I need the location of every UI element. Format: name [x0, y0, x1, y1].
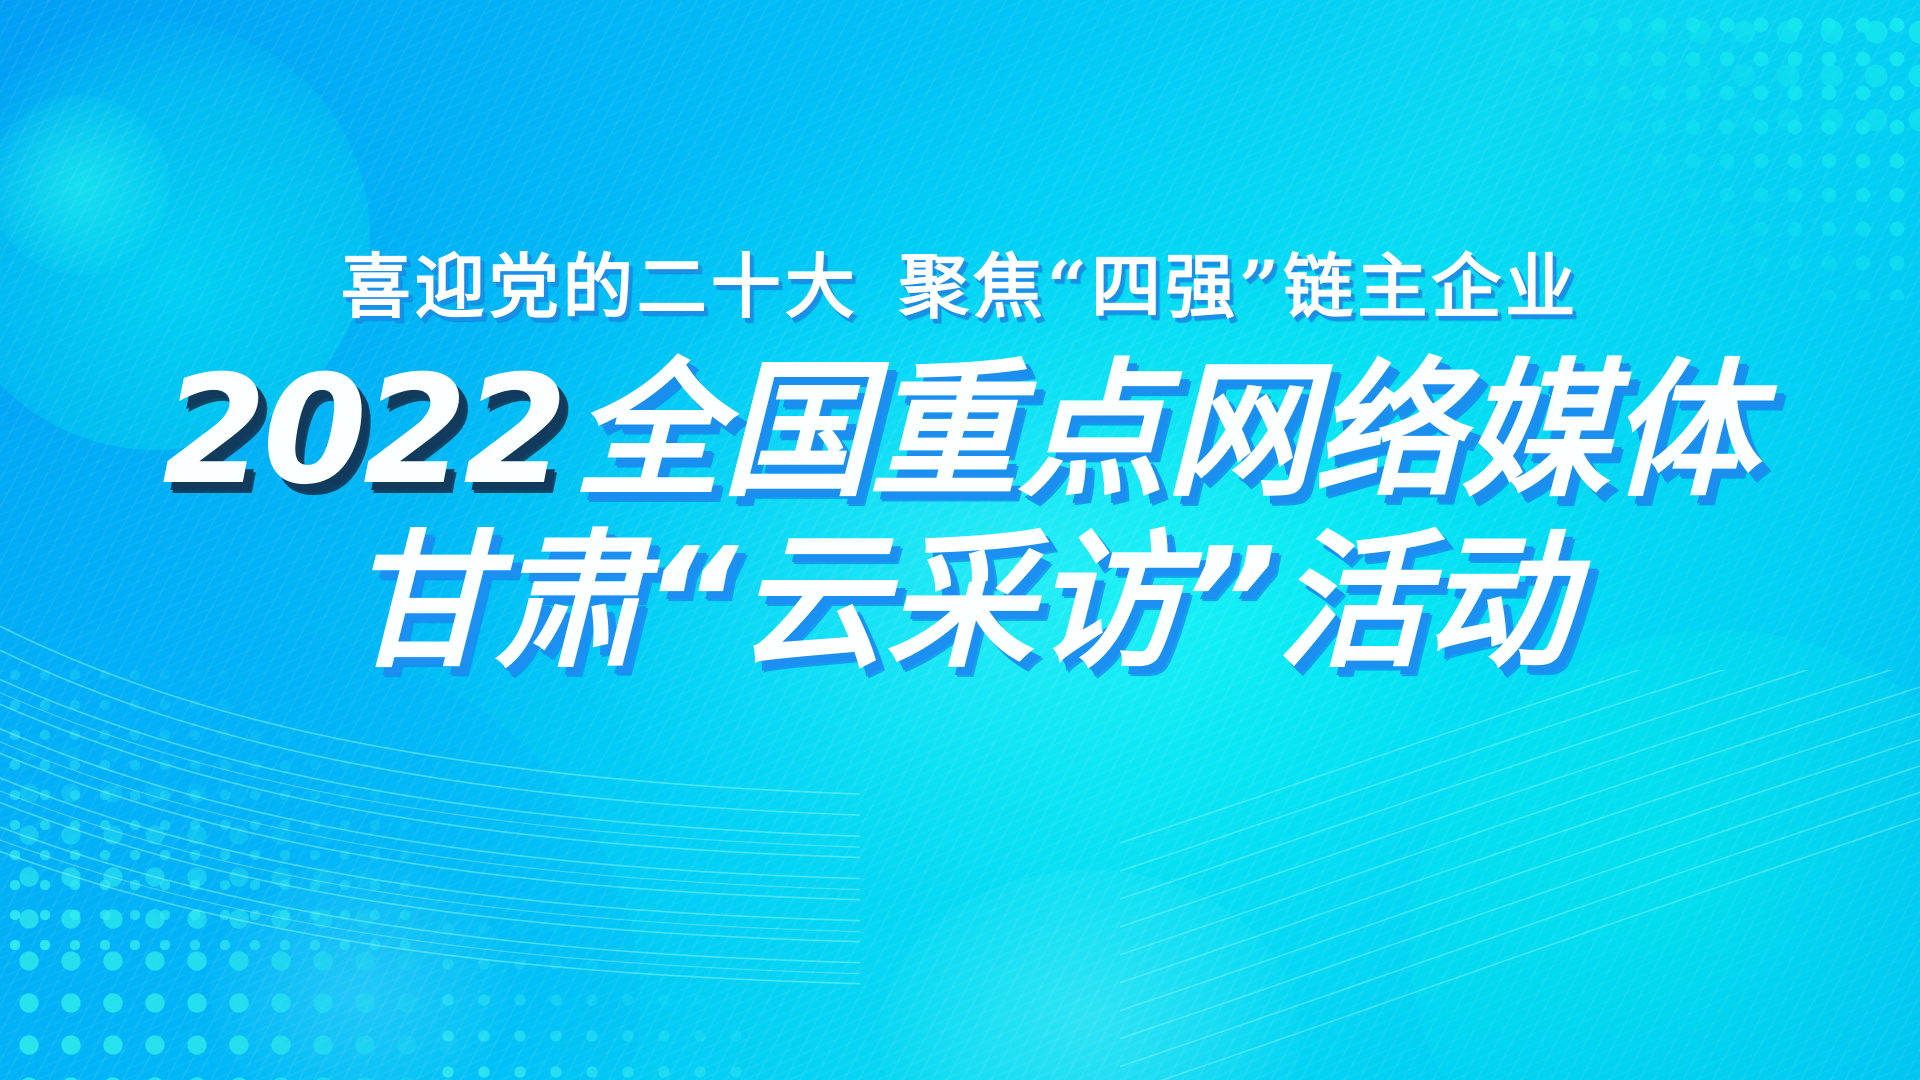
promotional-banner: 喜迎党的二十大聚焦“四强”链主企业 2022全国重点网络媒体 甘肃“云采访”活动 — [0, 0, 1920, 1080]
flow-lines-bottom-right — [1120, 670, 1920, 1080]
glow-circle-bottom-right — [1410, 630, 1920, 1080]
halftone-dots-bottom-left — [0, 640, 560, 1080]
title-line2-text: 甘肃“云采访”活动 — [347, 516, 1574, 688]
glow-bottom-center — [880, 870, 1300, 1080]
subtitle-part1: 喜迎党的二十大 — [341, 245, 859, 328]
title-year: 2022 — [162, 344, 563, 518]
glow-bottom-left — [210, 860, 510, 1080]
headline-block: 喜迎党的二十大聚焦“四强”链主企业 2022全国重点网络媒体 甘肃“云采访”活动 — [0, 0, 1920, 676]
subtitle-part2: 聚焦“四强”链主企业 — [899, 245, 1580, 328]
halftone-dots-bottom-center — [430, 910, 750, 1080]
banner-subtitle: 喜迎党的二十大聚焦“四强”链主企业 — [0, 252, 1920, 322]
light-wedge-bottom-left — [0, 620, 640, 1080]
banner-title-line-1: 2022全国重点网络媒体 — [0, 356, 1920, 506]
title-line1-text: 全国重点网络媒体 — [574, 345, 1758, 517]
banner-title-line-2: 甘肃“云采访”活动 — [0, 528, 1920, 676]
halftone-dots-bottom-left-small — [0, 660, 420, 960]
